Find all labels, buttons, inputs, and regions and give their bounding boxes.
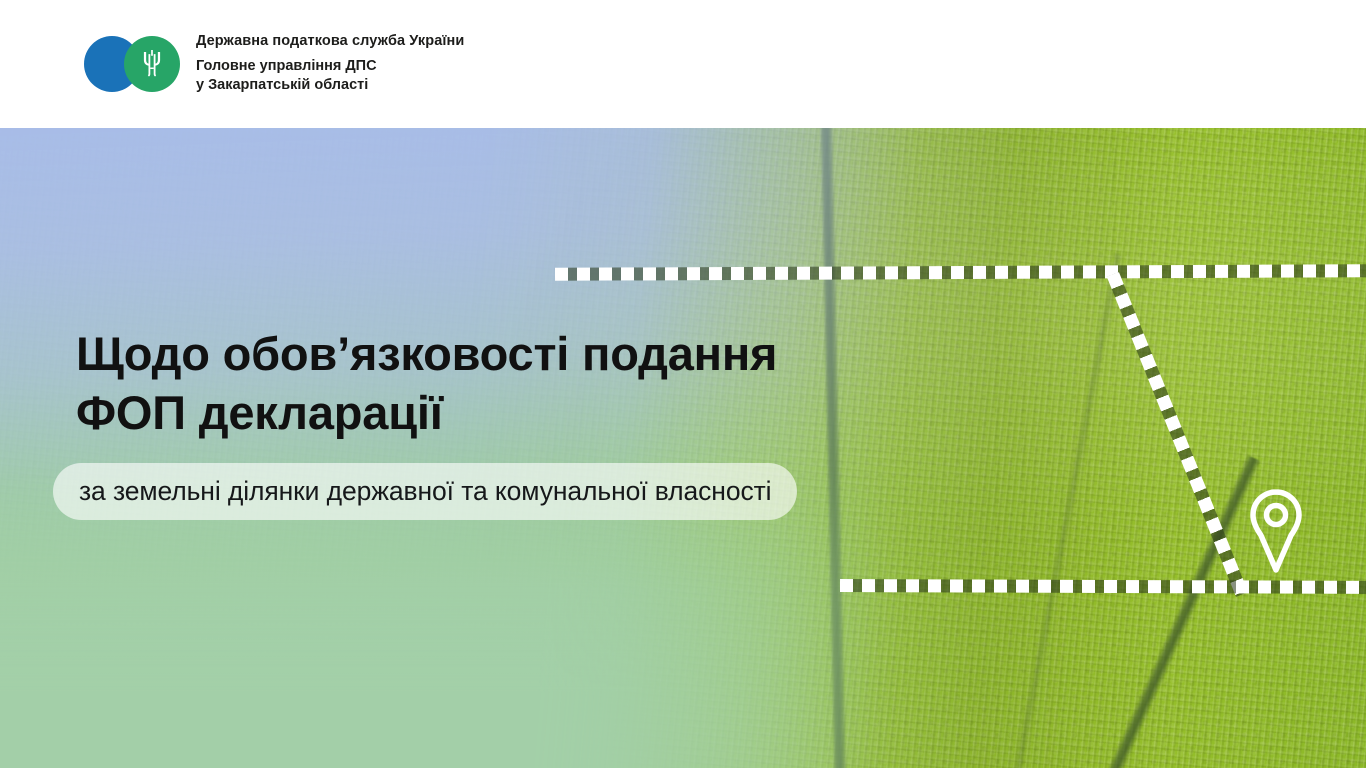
logo-emblem	[84, 36, 180, 92]
organization-name: Державна податкова служба України Головн…	[196, 33, 464, 95]
organization-logo[interactable]: Державна податкова служба України Головн…	[84, 33, 464, 95]
subtitle-pill: за земельні ділянки державної та комунал…	[53, 463, 797, 520]
green-circle-icon	[124, 36, 180, 92]
cadastre-boundary-middle	[840, 579, 1366, 594]
hero-image	[0, 128, 1366, 768]
org-name-line-1: Державна податкова служба України	[196, 33, 464, 50]
map-pin-icon	[1243, 486, 1309, 576]
org-name-line-3: у Закарпатській області	[196, 76, 464, 95]
banner-page: Державна податкова служба України Головн…	[0, 0, 1366, 768]
ukrainian-trident-icon	[141, 50, 163, 77]
org-name-line-2: Головне управління ДПС	[196, 57, 464, 76]
site-header: Державна податкова служба України Головн…	[0, 0, 1366, 128]
